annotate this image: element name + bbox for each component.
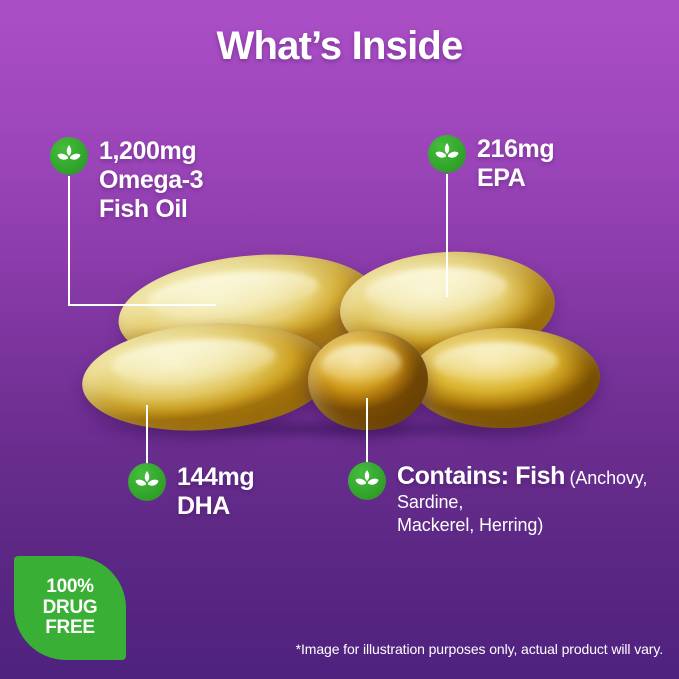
leader-line-dha-vertical <box>146 405 148 465</box>
leaf-icon <box>50 137 88 175</box>
callout-contains-fish: Contains: Fish (Anchovy, Sardine, Macker… <box>348 462 679 536</box>
callout-dha-label: 144mg DHA <box>177 463 254 520</box>
leaf-icon <box>128 463 166 501</box>
leader-line-omega-horizontal <box>68 304 216 306</box>
leaf-icon <box>428 135 466 173</box>
disclaimer-text: *Image for illustration purposes only, a… <box>296 641 663 657</box>
callout-contains-fish-label: Contains: Fish <box>397 462 565 490</box>
leaf-icon <box>348 462 386 500</box>
drug-free-badge-label: 100% DRUG FREE <box>43 577 98 640</box>
product-infographic: What’s Inside 1,200mg Omega-3 Fish Oil <box>0 0 679 679</box>
callout-omega-3: 1,200mg Omega-3 Fish Oil <box>50 137 203 224</box>
leader-line-fish-vertical <box>366 398 368 464</box>
page-title: What’s Inside <box>0 24 679 69</box>
callout-epa: 216mg EPA <box>428 135 554 193</box>
drug-free-badge: 100% DRUG FREE <box>14 556 126 660</box>
callout-omega-3-label: 1,200mg Omega-3 Fish Oil <box>99 137 203 223</box>
callout-epa-label: 216mg EPA <box>477 135 554 192</box>
callout-dha: 144mg DHA <box>128 463 254 521</box>
softgel-capsules-image <box>78 250 608 440</box>
